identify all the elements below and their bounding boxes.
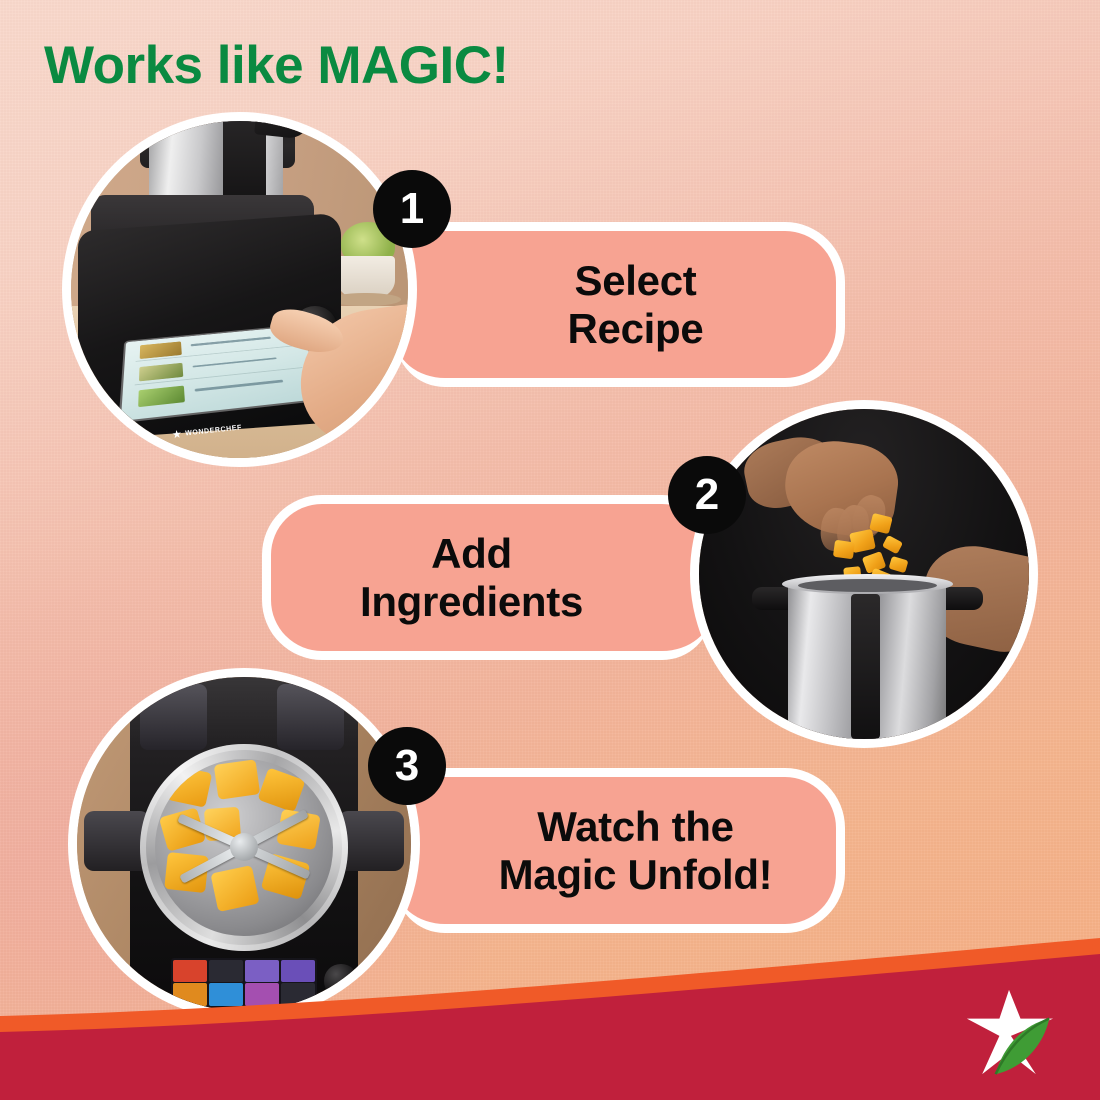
step-photo-2 — [690, 400, 1038, 748]
step-photo-1: WONDERCHEF — [62, 112, 417, 467]
step-photo-2-image — [699, 409, 1029, 739]
step-card-3: Watch the Magic Unfold! — [395, 768, 845, 933]
step-photo-1-image: WONDERCHEF — [71, 121, 408, 458]
wonderchef-logo — [960, 986, 1058, 1078]
page-title: Works like MAGIC! — [44, 35, 509, 96]
infographic-canvas: Works like MAGIC! Select Recipe — [0, 0, 1100, 1100]
step-card-2: Add Ingredients — [262, 495, 712, 660]
step-badge-3: 3 — [368, 727, 446, 805]
footer-curves — [0, 930, 1100, 1100]
step-label-3: Watch the Magic Unfold! — [499, 803, 773, 897]
step-card-1: Select Recipe — [395, 222, 845, 387]
step-badge-1: 1 — [373, 170, 451, 248]
footer-main-band — [0, 954, 1100, 1100]
step-badge-2: 2 — [668, 456, 746, 534]
step-label-1: Select Recipe — [568, 257, 704, 351]
step-label-2: Add Ingredients — [360, 530, 583, 624]
wonderchef-star-icon — [172, 429, 182, 439]
footer — [0, 930, 1100, 1100]
